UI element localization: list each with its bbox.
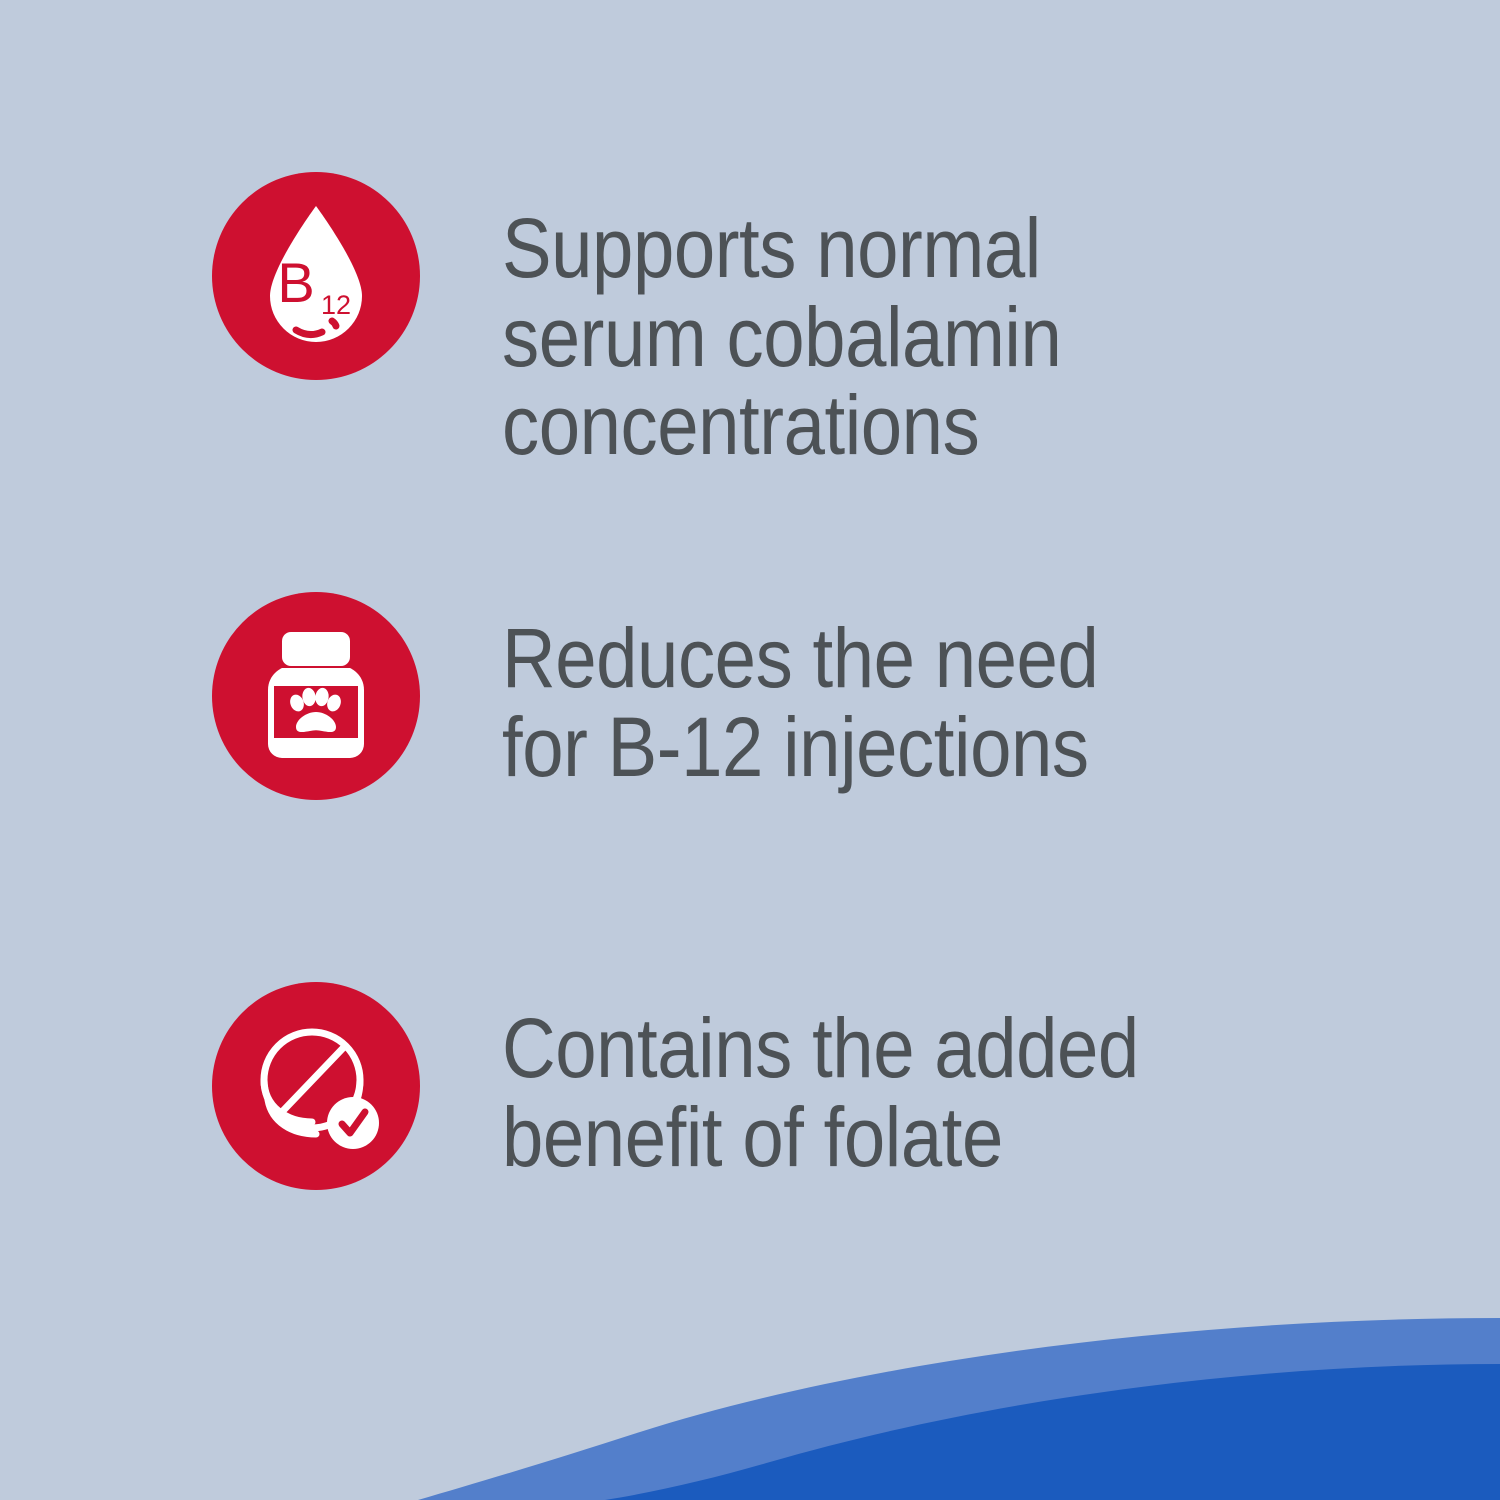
benefit-text: Reduces the need for B-12 injections xyxy=(502,614,1290,791)
b12-letter-b: B xyxy=(277,251,314,314)
benefit-text: Supports normal serum cobalamin concentr… xyxy=(502,204,1290,470)
droplet-highlight-dot xyxy=(332,321,336,326)
wave-band-light xyxy=(418,1318,1500,1500)
bottle-cap xyxy=(282,632,350,666)
benefit-icon-badge xyxy=(212,592,420,800)
benefit-text: Contains the added benefit of folate xyxy=(502,1004,1290,1181)
benefit-icon-badge: B 12 xyxy=(212,172,420,380)
benefit-item: Contains the added benefit of folate xyxy=(212,982,1392,1190)
benefit-item: B 12 Supports normal serum cobalamin con… xyxy=(212,172,1392,470)
pet-supplement-bottle-icon xyxy=(212,592,420,800)
benefit-icon-badge xyxy=(212,982,420,1190)
b12-subscript: 12 xyxy=(321,290,351,320)
benefit-item: Reduces the need for B-12 injections xyxy=(212,592,1392,800)
benefits-infographic: B 12 Supports normal serum cobalamin con… xyxy=(0,0,1500,1500)
benefits-list: B 12 Supports normal serum cobalamin con… xyxy=(0,0,1500,1260)
wave-band-dark xyxy=(605,1364,1500,1500)
tablet-with-check-icon xyxy=(212,982,420,1190)
b12-blood-drop-icon: B 12 xyxy=(212,172,420,380)
